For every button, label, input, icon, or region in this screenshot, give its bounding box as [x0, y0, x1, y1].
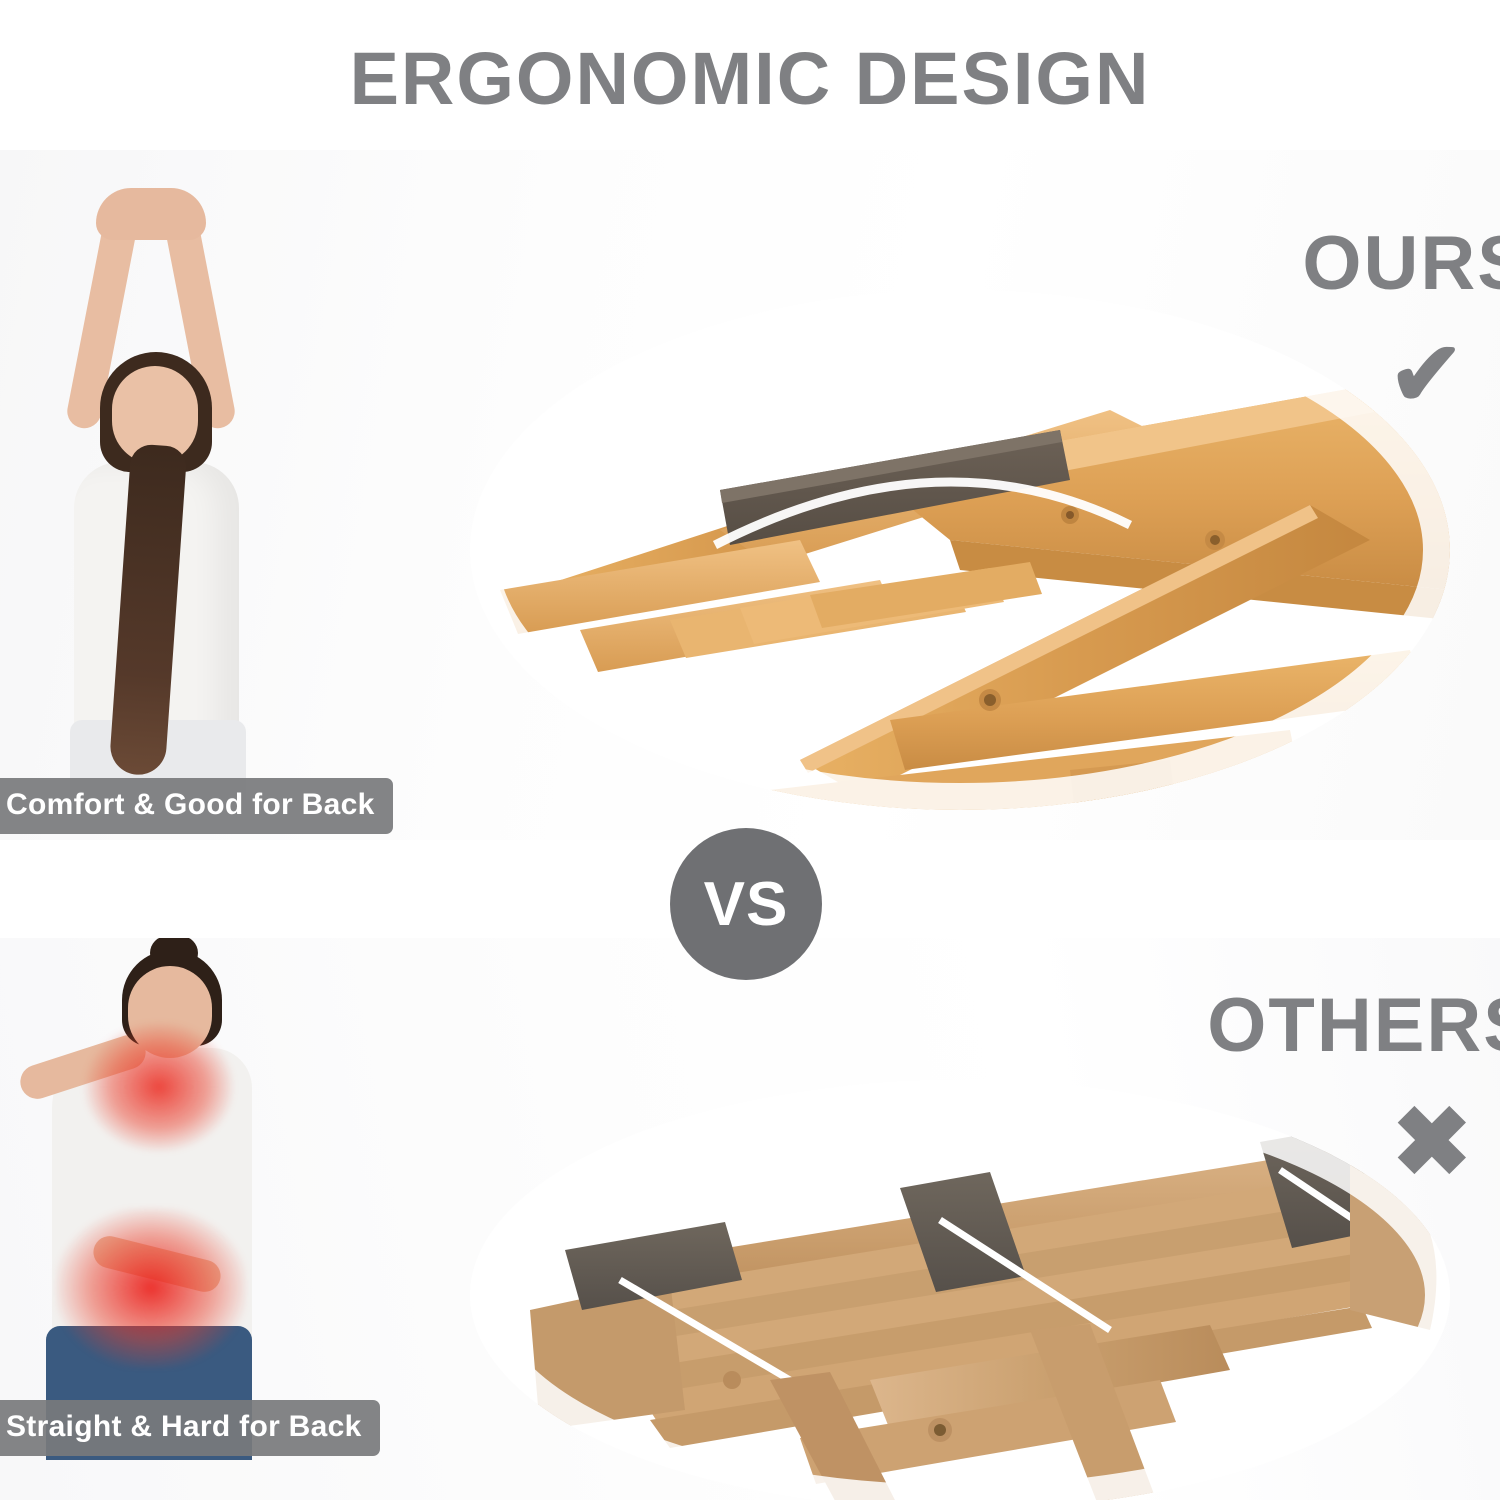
caption-ours: Comfort & Good for Back: [0, 778, 393, 834]
label-ours: OURS: [1302, 220, 1500, 307]
person-hair-bun: [150, 936, 198, 970]
person-hands: [96, 188, 206, 240]
photo-product-ours: [470, 290, 1450, 810]
pain-highlight-lower-back: [56, 1208, 246, 1368]
check-icon: ✔: [1389, 330, 1464, 420]
photo-product-others: [470, 1080, 1450, 1500]
photo-person-back-pain: [0, 930, 300, 1460]
product-illustration-others: [470, 1080, 1450, 1500]
product-illustration-ours: [470, 290, 1450, 810]
page-title: ERGONOMIC DESIGN: [0, 36, 1500, 121]
photo-person-stretching: [0, 180, 300, 800]
caption-others: Straight & Hard for Back: [0, 1400, 380, 1456]
pain-highlight-neck: [84, 1022, 234, 1152]
comparison-panel-ours: Comfort & Good for Back OURS ✔: [0, 150, 1500, 840]
vs-badge: VS: [670, 828, 822, 980]
cross-icon: ✖: [1392, 1095, 1472, 1191]
label-others: OTHERS: [1207, 982, 1500, 1069]
comparison-panel-others: Straight & Hard for Back OTHERS ✖: [0, 900, 1500, 1500]
